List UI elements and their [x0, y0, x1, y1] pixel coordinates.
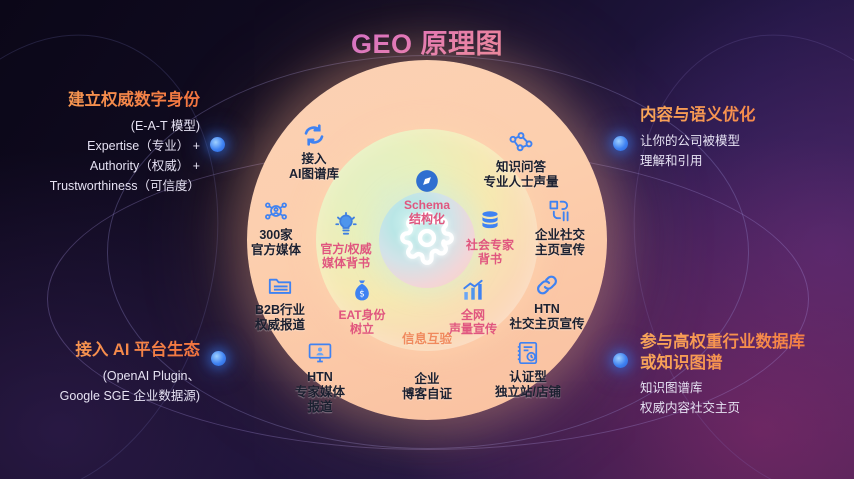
callout-line: Trustworthiness（可信度） — [8, 176, 200, 196]
outer-item-label: HTN 专家媒体 报道 — [261, 370, 379, 414]
outer-item-htn-expert-media[interactable]: HTN 专家媒体 报道 — [261, 340, 379, 414]
callout-line: (OpenAI Plugin、 — [8, 366, 200, 386]
callout-line: Google SGE 企业数据源) — [8, 386, 200, 406]
social-share-icon — [501, 198, 619, 226]
outer-item-ai-graph[interactable]: 接入 AI图谱库 — [255, 122, 373, 182]
callout-line: Authority（权威） + — [8, 156, 200, 176]
callout-line: 理解和引用 — [640, 151, 848, 171]
callout-line: 让你的公司被模型 — [640, 131, 848, 151]
outer-item-label: 认证型 独立站/店铺 — [469, 370, 587, 400]
callout-bottom-right: 参与高权重行业数据库 或知识图谱 知识图谱库 权威内容社交主页 — [640, 332, 852, 418]
callout-line: (E-A-T 模型) — [8, 116, 200, 136]
callout-bottom-left: 接入 AI 平台生态 (OpenAI Plugin、 Google SGE 企业… — [8, 340, 200, 406]
link-icon — [481, 272, 613, 300]
outer-item-certified-site[interactable]: 认证型 独立站/店铺 — [469, 340, 587, 400]
outer-item-b2b-report[interactable]: B2B行业 权威报道 — [221, 273, 339, 333]
page-title: GEO 原理图 — [0, 22, 854, 61]
callout-title: 内容与语义优化 — [640, 105, 848, 126]
callout-title: 接入 AI 平台生态 — [8, 340, 200, 361]
outer-item-label: B2B行业 权威报道 — [221, 303, 339, 333]
callout-top-left: 建立权威数字身份 (E-A-T 模型) Expertise（专业） + Auth… — [8, 90, 200, 196]
outer-item-label: 接入 AI图谱库 — [255, 152, 373, 182]
notebook-clock-icon — [469, 340, 587, 368]
callout-title: 建立权威数字身份 — [8, 90, 200, 111]
callout-line: Expertise（专业） + — [8, 136, 200, 156]
outer-item-htn-social[interactable]: HTN 社交主页宣传 — [481, 272, 613, 332]
outer-item-enterprise-social[interactable]: 企业社交 主页宣传 — [501, 198, 619, 258]
monitor-user-icon — [261, 340, 379, 368]
callout-title: 参与高权重行业数据库 或知识图谱 — [640, 332, 852, 373]
node-top-left[interactable] — [210, 137, 225, 152]
outer-item-300-media[interactable]: 300家 官方媒体 — [217, 198, 335, 258]
outer-item-label: 300家 官方媒体 — [217, 228, 335, 258]
node-graph-icon — [453, 130, 589, 158]
svg-text:$: $ — [359, 289, 365, 299]
network-user-icon — [217, 198, 335, 226]
outer-item-label: 企业社交 主页宣传 — [501, 228, 619, 258]
folder-icon — [221, 273, 339, 301]
node-bottom-left[interactable] — [211, 351, 226, 366]
sync-icon — [255, 122, 373, 150]
callout-line: 知识图谱库 — [640, 378, 852, 398]
outer-item-label: 知识问答 专业人士声量 — [453, 160, 589, 190]
node-bottom-right[interactable] — [613, 353, 628, 368]
outer-item-knowledge-qa[interactable]: 知识问答 专业人士声量 — [453, 130, 589, 190]
geo-diagram-canvas: GEO 原理图 信息互验 Schema 结构化 官方/权威 媒体背书 — [0, 0, 854, 479]
callout-top-right: 内容与语义优化 让你的公司被模型 理解和引用 — [640, 105, 848, 171]
callout-line: 权威内容社交主页 — [640, 398, 852, 418]
node-top-right[interactable] — [613, 136, 628, 151]
outer-item-label: HTN 社交主页宣传 — [481, 302, 613, 332]
